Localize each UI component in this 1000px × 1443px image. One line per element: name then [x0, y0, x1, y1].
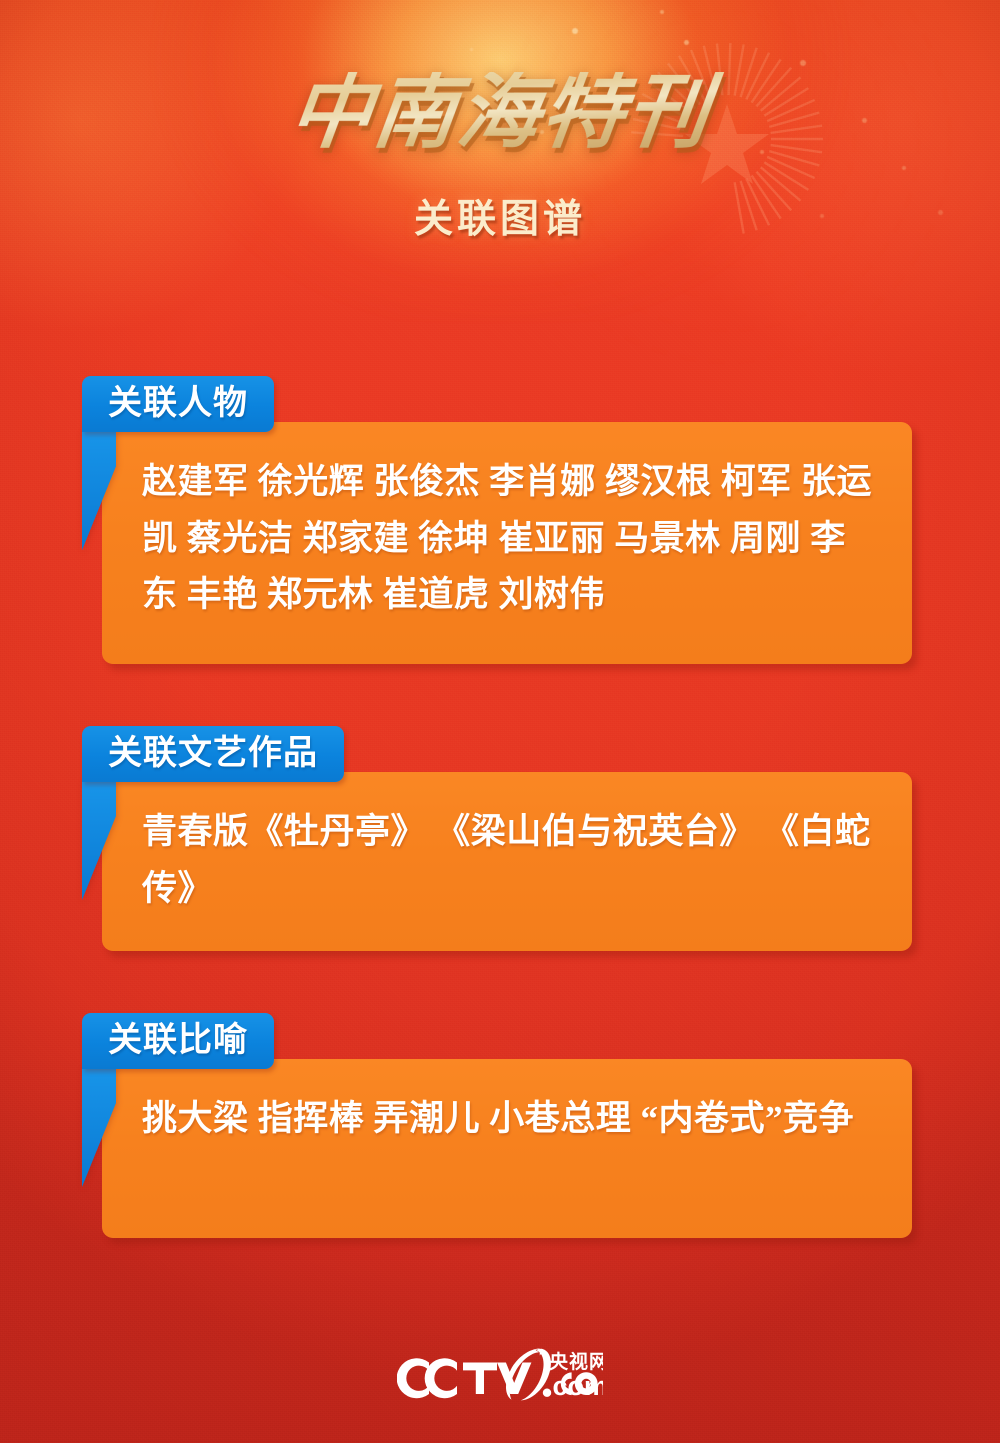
card-tab-related-artworks[interactable]: 关联文艺作品 [82, 726, 344, 782]
card-tab-label: 关联文艺作品 [108, 737, 318, 771]
card-panel-related-metaphors: 挑大梁 指挥棒 弄潮儿 小巷总理 “内卷式”竞争 [102, 1059, 912, 1238]
page-header: 中南海特刊 关联图谱 [0, 0, 1000, 250]
page-footer: .com 央视网 [0, 1338, 1000, 1408]
page-subtitle: 关联图谱 [0, 188, 1000, 244]
card-panel-related-artworks: 青春版《牡丹亭》 《梁山伯与祝英台》 《白蛇传》 [102, 772, 912, 951]
tab-tail-decoration [82, 1067, 116, 1187]
card-tab-label: 关联比喻 [108, 1024, 248, 1058]
page-title: 中南海特刊 [0, 72, 1000, 154]
card-panel-related-people: 赵建军 徐光辉 张俊杰 李肖娜 缪汉根 柯军 张运凯 蔡光洁 郑家建 徐坤 崔亚… [102, 422, 912, 664]
card-related-artworks: 关联文艺作品 青春版《牡丹亭》 《梁山伯与祝英台》 《白蛇传》 [0, 726, 1000, 951]
card-body-text: 赵建军 徐光辉 张俊杰 李肖娜 缪汉根 柯军 张运凯 蔡光洁 郑家建 徐坤 崔亚… [142, 454, 878, 624]
card-body-text: 挑大梁 指挥棒 弄潮儿 小巷总理 “内卷式”竞争 [142, 1091, 854, 1148]
card-tab-related-people[interactable]: 关联人物 [82, 376, 274, 432]
card-related-people: 关联人物 赵建军 徐光辉 张俊杰 李肖娜 缪汉根 柯军 张运凯 蔡光洁 郑家建 … [0, 376, 1000, 664]
tab-tail-decoration [82, 780, 116, 900]
cards-container: 关联人物 赵建军 徐光辉 张俊杰 李肖娜 缪汉根 柯军 张运凯 蔡光洁 郑家建 … [0, 376, 1000, 1300]
card-body-text: 青春版《牡丹亭》 《梁山伯与祝英台》 《白蛇传》 [142, 804, 878, 917]
card-tab-related-metaphors[interactable]: 关联比喻 [82, 1013, 274, 1069]
cctv-brand-cn: 央视网 [549, 1350, 603, 1373]
card-tab-label: 关联人物 [108, 387, 248, 421]
cctv-tld: .com [545, 1371, 603, 1401]
tab-tail-decoration [82, 430, 116, 550]
card-related-metaphors: 关联比喻 挑大梁 指挥棒 弄潮儿 小巷总理 “内卷式”竞争 [0, 1013, 1000, 1238]
cctv-logo[interactable]: .com 央视网 [397, 1342, 603, 1404]
